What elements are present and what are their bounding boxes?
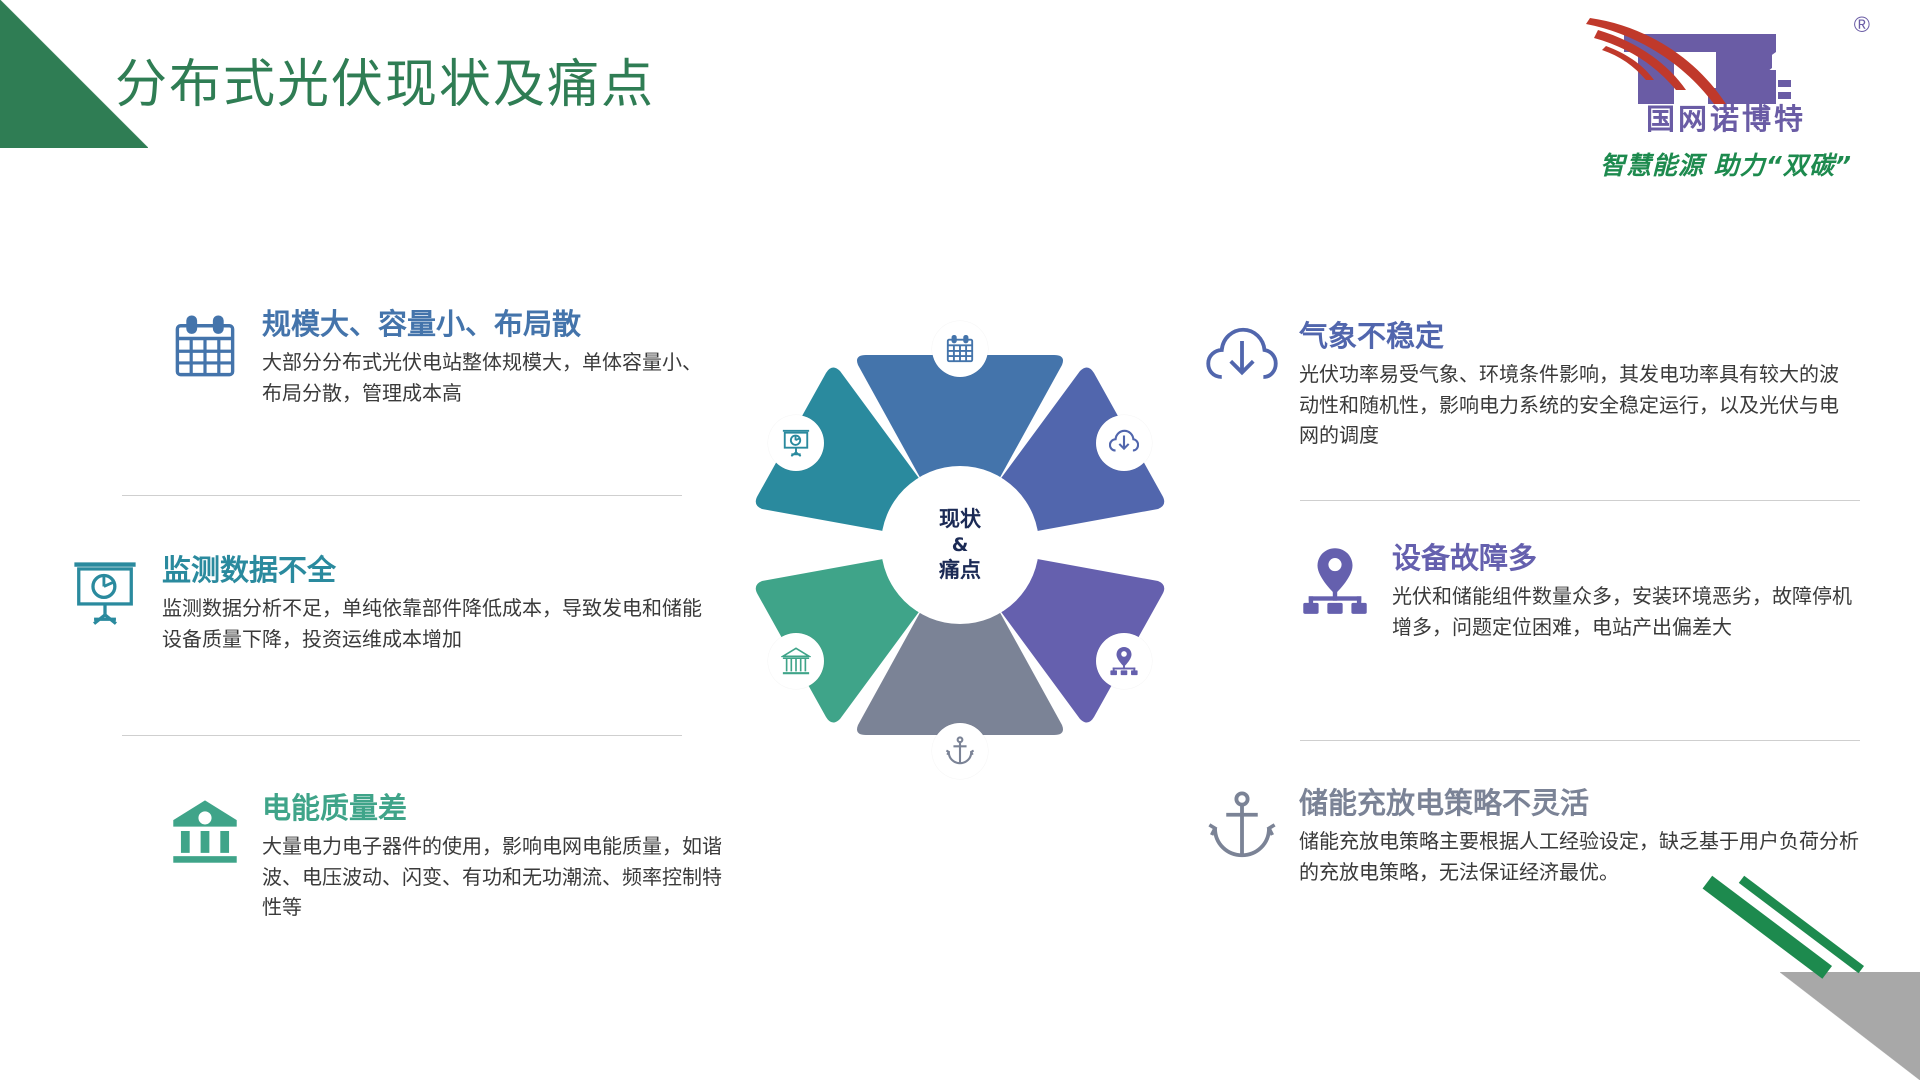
feature-title: 规模大、容量小、布局散: [262, 306, 708, 342]
page-title: 分布式光伏现状及痛点: [115, 42, 655, 117]
feature-title: 电能质量差: [262, 790, 728, 826]
wheel-badge-presentation-chart: [768, 415, 824, 471]
sitemap-pin-icon: [1298, 544, 1372, 618]
feature-item-storage-strategy: 储能充放电策略不灵活 储能充放电策略主要根据人工经验设定，缺乏基于用户负荷分析的…: [1205, 785, 1865, 887]
feature-text: 储能充放电策略主要根据人工经验设定，缺乏基于用户负荷分析的充放电策略，无法保证经…: [1299, 826, 1865, 887]
hexagon-wheel-diagram: 现状 & 痛点: [750, 335, 1170, 755]
feature-text: 光伏和储能组件数量众多，安装环境恶劣，故障停机增多，问题定位困难，电站产出偏差大: [1392, 581, 1858, 642]
feature-title: 气象不稳定: [1299, 318, 1845, 354]
feature-text: 大部分分布式光伏电站整体规模大，单体容量小、布局分散，管理成本高: [262, 347, 708, 408]
calendar-icon: [945, 334, 975, 364]
bank-icon: [781, 646, 811, 676]
feature-divider-right-1: [1300, 500, 1860, 501]
bottom-right-green-stripe-decoration: [1736, 966, 1868, 1058]
feature-title: 监测数据不全: [162, 552, 708, 588]
company-logo: ® 国网诺博特 智慧能源 助力“双碳”: [1576, 8, 1876, 178]
feature-text: 光伏功率易受气象、环境条件影响，其发电功率具有较大的波动性和随机性，影响电力系统…: [1299, 359, 1845, 450]
wheel-badge-sitemap-pin: [1096, 633, 1152, 689]
wheel-badge-anchor: [932, 723, 988, 779]
cloud-download-icon: [1109, 428, 1139, 458]
registered-trademark-icon: ®: [1854, 12, 1870, 38]
feature-title: 设备故障多: [1392, 540, 1858, 576]
sitemap-pin-icon: [1109, 646, 1139, 676]
feature-item-weather: 气象不稳定 光伏功率易受气象、环境条件影响，其发电功率具有较大的波动性和随机性，…: [1205, 318, 1845, 450]
presentation-chart-icon: [781, 428, 811, 458]
feature-item-scale: 规模大、容量小、布局散 大部分分布式光伏电站整体规模大，单体容量小、布局分散，管…: [168, 306, 708, 408]
feature-divider-right-2: [1300, 740, 1860, 741]
wheel-badge-calendar: [932, 321, 988, 377]
feature-text: 大量电力电子器件的使用，影响电网电能质量，如谐波、电压波动、闪变、有功和无功潮流…: [262, 831, 728, 922]
logo-tagline: 智慧能源 助力“双碳”: [1570, 146, 1882, 182]
wheel-badge-bank: [768, 633, 824, 689]
wheel-hub: 现状 & 痛点: [881, 466, 1039, 624]
feature-item-equipment-failure: 设备故障多 光伏和储能组件数量众多，安装环境恶劣，故障停机增多，问题定位困难，电…: [1298, 540, 1858, 642]
feature-text: 监测数据分析不足，单纯依靠部件降低成本，导致发电和储能设备质量下降，投资运维成本…: [162, 593, 708, 654]
anchor-icon: [1205, 789, 1279, 863]
logo-company-name: 国网诺博特: [1596, 96, 1856, 138]
cloud-download-icon: [1205, 322, 1279, 396]
hub-line-1: 现状: [939, 506, 981, 533]
hub-line-3: 痛点: [939, 557, 981, 584]
hub-line-2: &: [952, 533, 969, 557]
feature-item-power-quality: 电能质量差 大量电力电子器件的使用，影响电网电能质量，如谐波、电压波动、闪变、有…: [168, 790, 728, 922]
wheel-badge-cloud-download: [1096, 415, 1152, 471]
anchor-icon: [945, 736, 975, 766]
feature-divider-left-1: [122, 495, 682, 496]
feature-divider-left-2: [122, 735, 682, 736]
bank-icon: [168, 794, 242, 868]
calendar-icon: [168, 310, 242, 384]
feature-title: 储能充放电策略不灵活: [1299, 785, 1865, 821]
presentation-chart-icon: [68, 556, 142, 630]
feature-item-monitoring: 监测数据不全 监测数据分析不足，单纯依靠部件降低成本，导致发电和储能设备质量下降…: [68, 552, 708, 654]
